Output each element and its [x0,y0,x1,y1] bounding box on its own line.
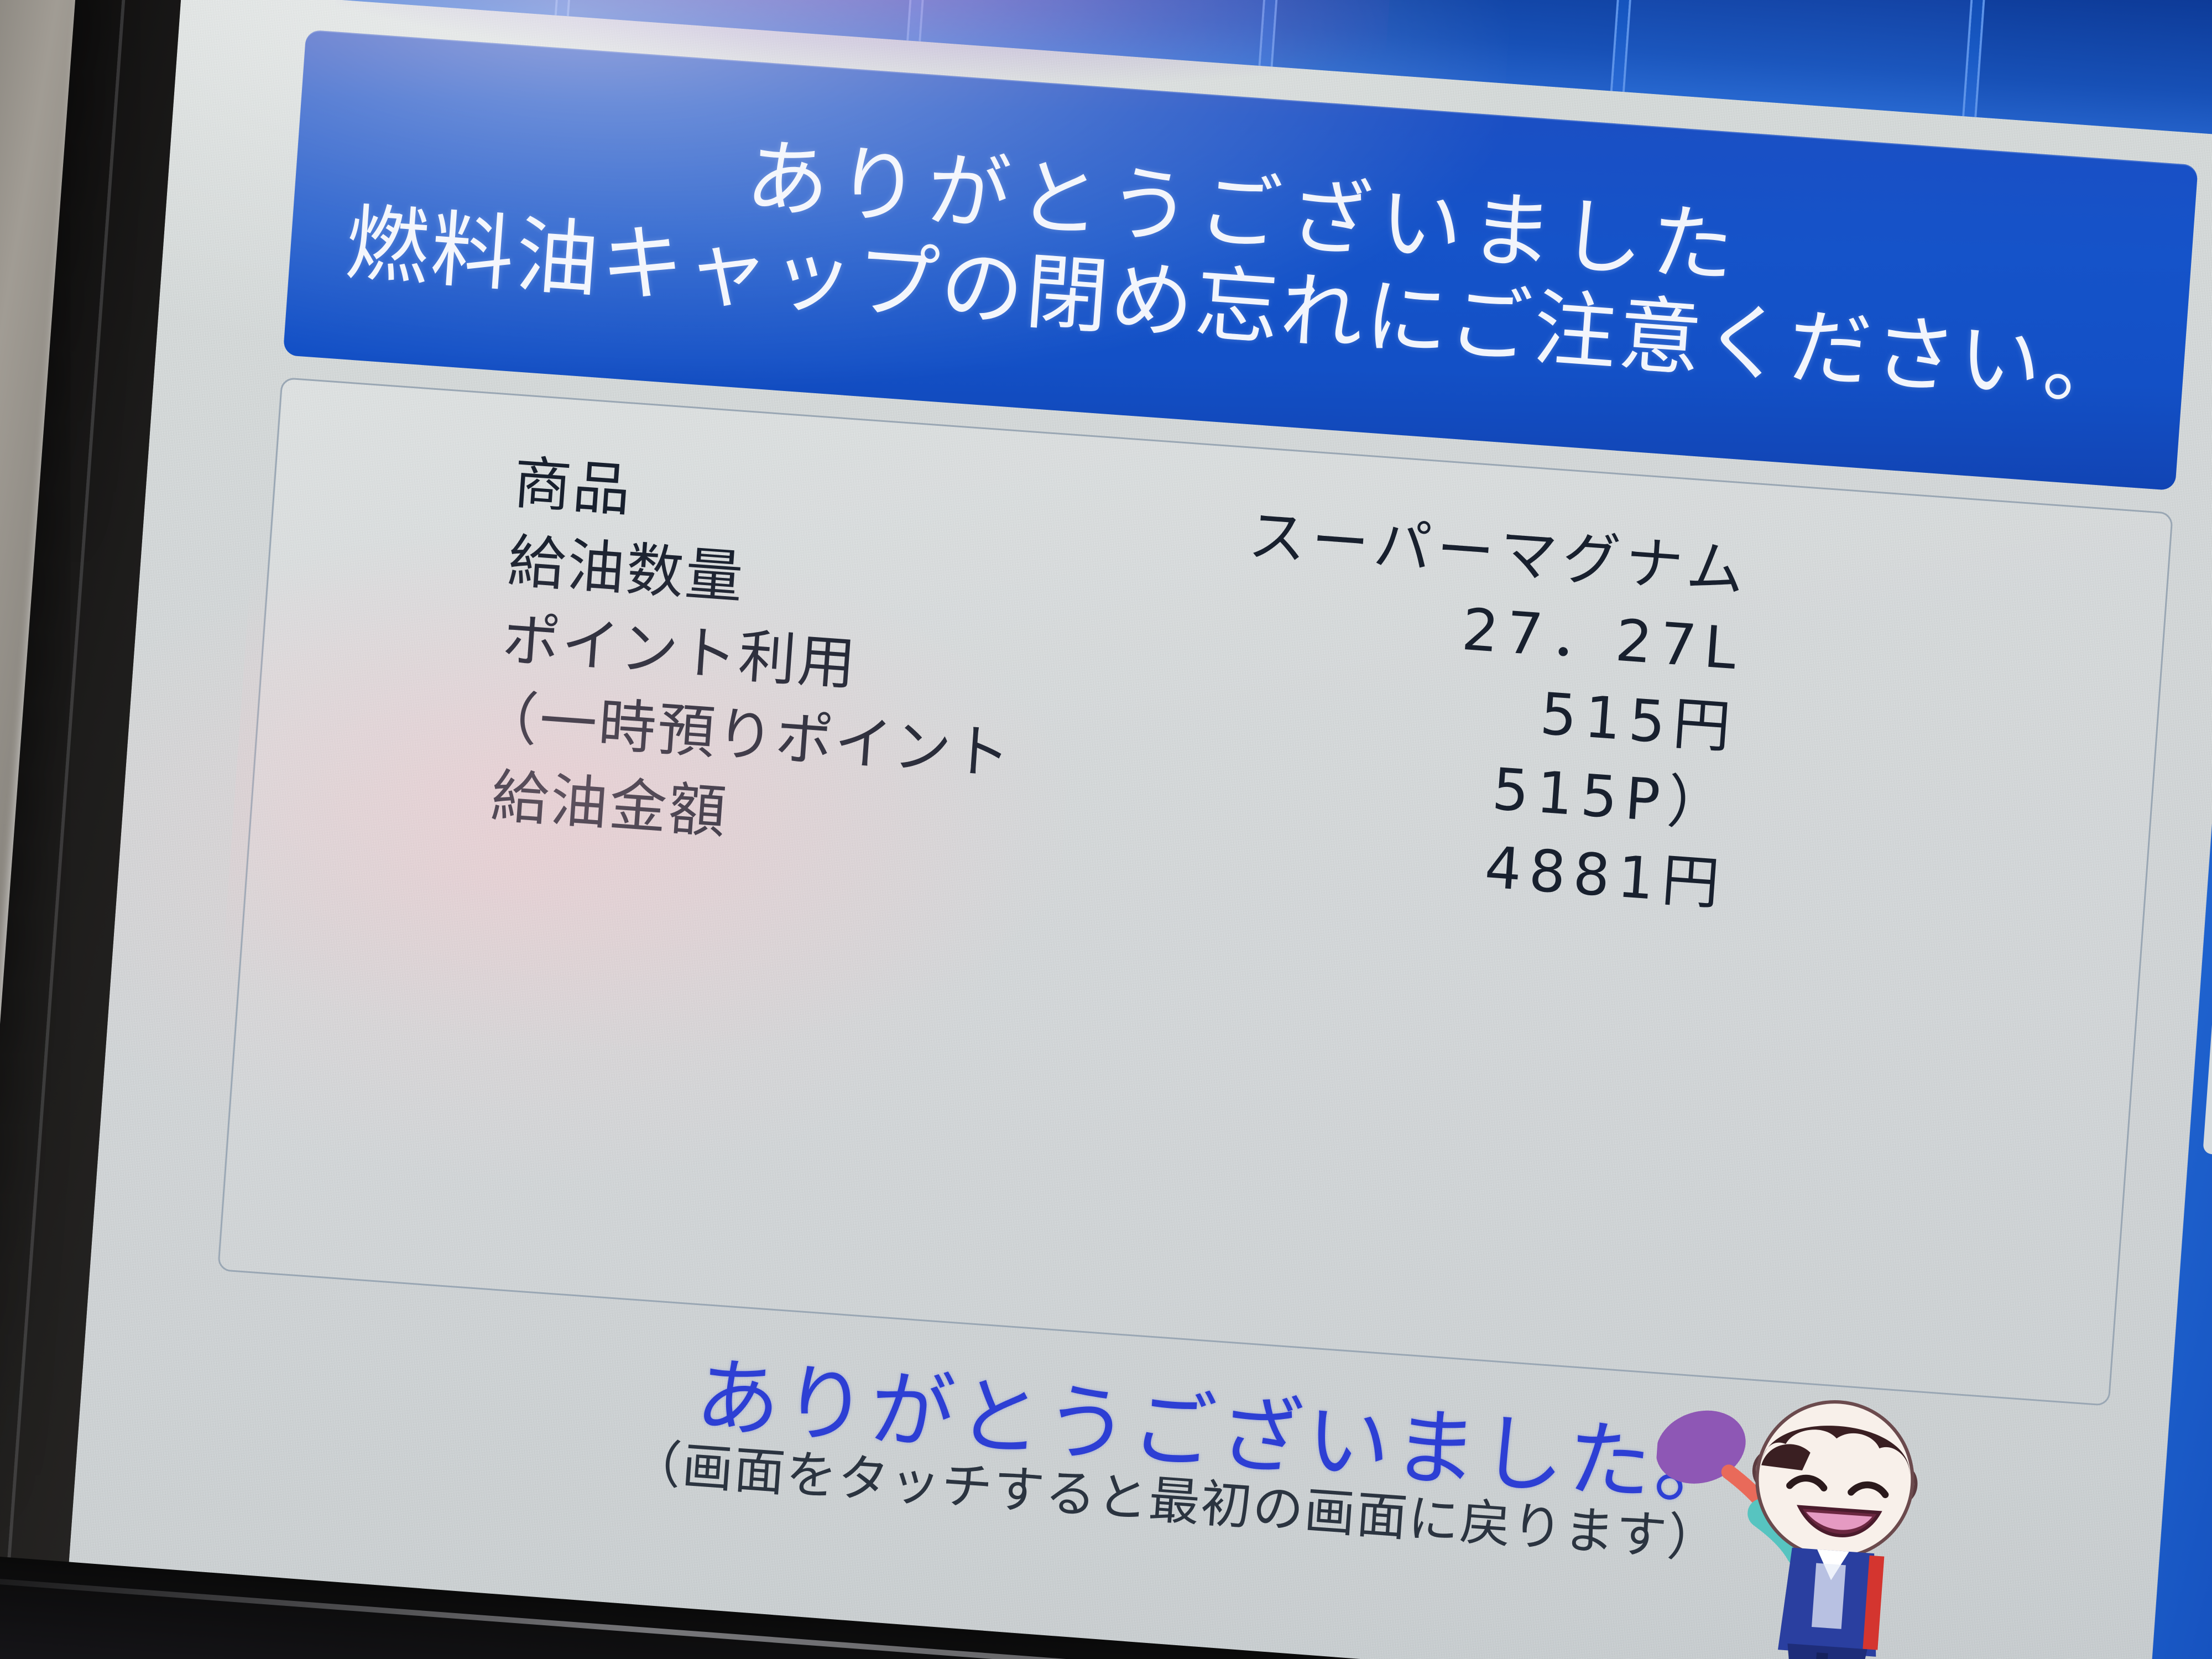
detail-rows: 商品 スーパーマグナム 給油数量 27．27L ポイント利用 515円 [252,419,2169,946]
right-panel-card-2[interactable] [2203,916,2212,1160]
gas-station-attendant-mascot-icon [1639,1369,2005,1659]
transaction-detail-panel: 商品 スーパーマグナム 給油数量 27．27L ポイント利用 515円 [217,377,2173,1406]
photo-scene: ありがとうございました 燃料油キャップの閉め忘れにご注意ください。 商品 スーパ… [0,0,2212,1659]
fuel-dispenser-ui: ありがとうございました 燃料油キャップの閉め忘れにご注意ください。 商品 スーパ… [62,0,2212,1659]
lcd-screen[interactable]: ありがとうございました 燃料油キャップの閉め忘れにご注意ください。 商品 スーパ… [62,0,2212,1659]
transaction-complete-window: ありがとうございました 燃料油キャップの閉め忘れにご注意ください。 商品 スーパ… [100,0,2212,1659]
